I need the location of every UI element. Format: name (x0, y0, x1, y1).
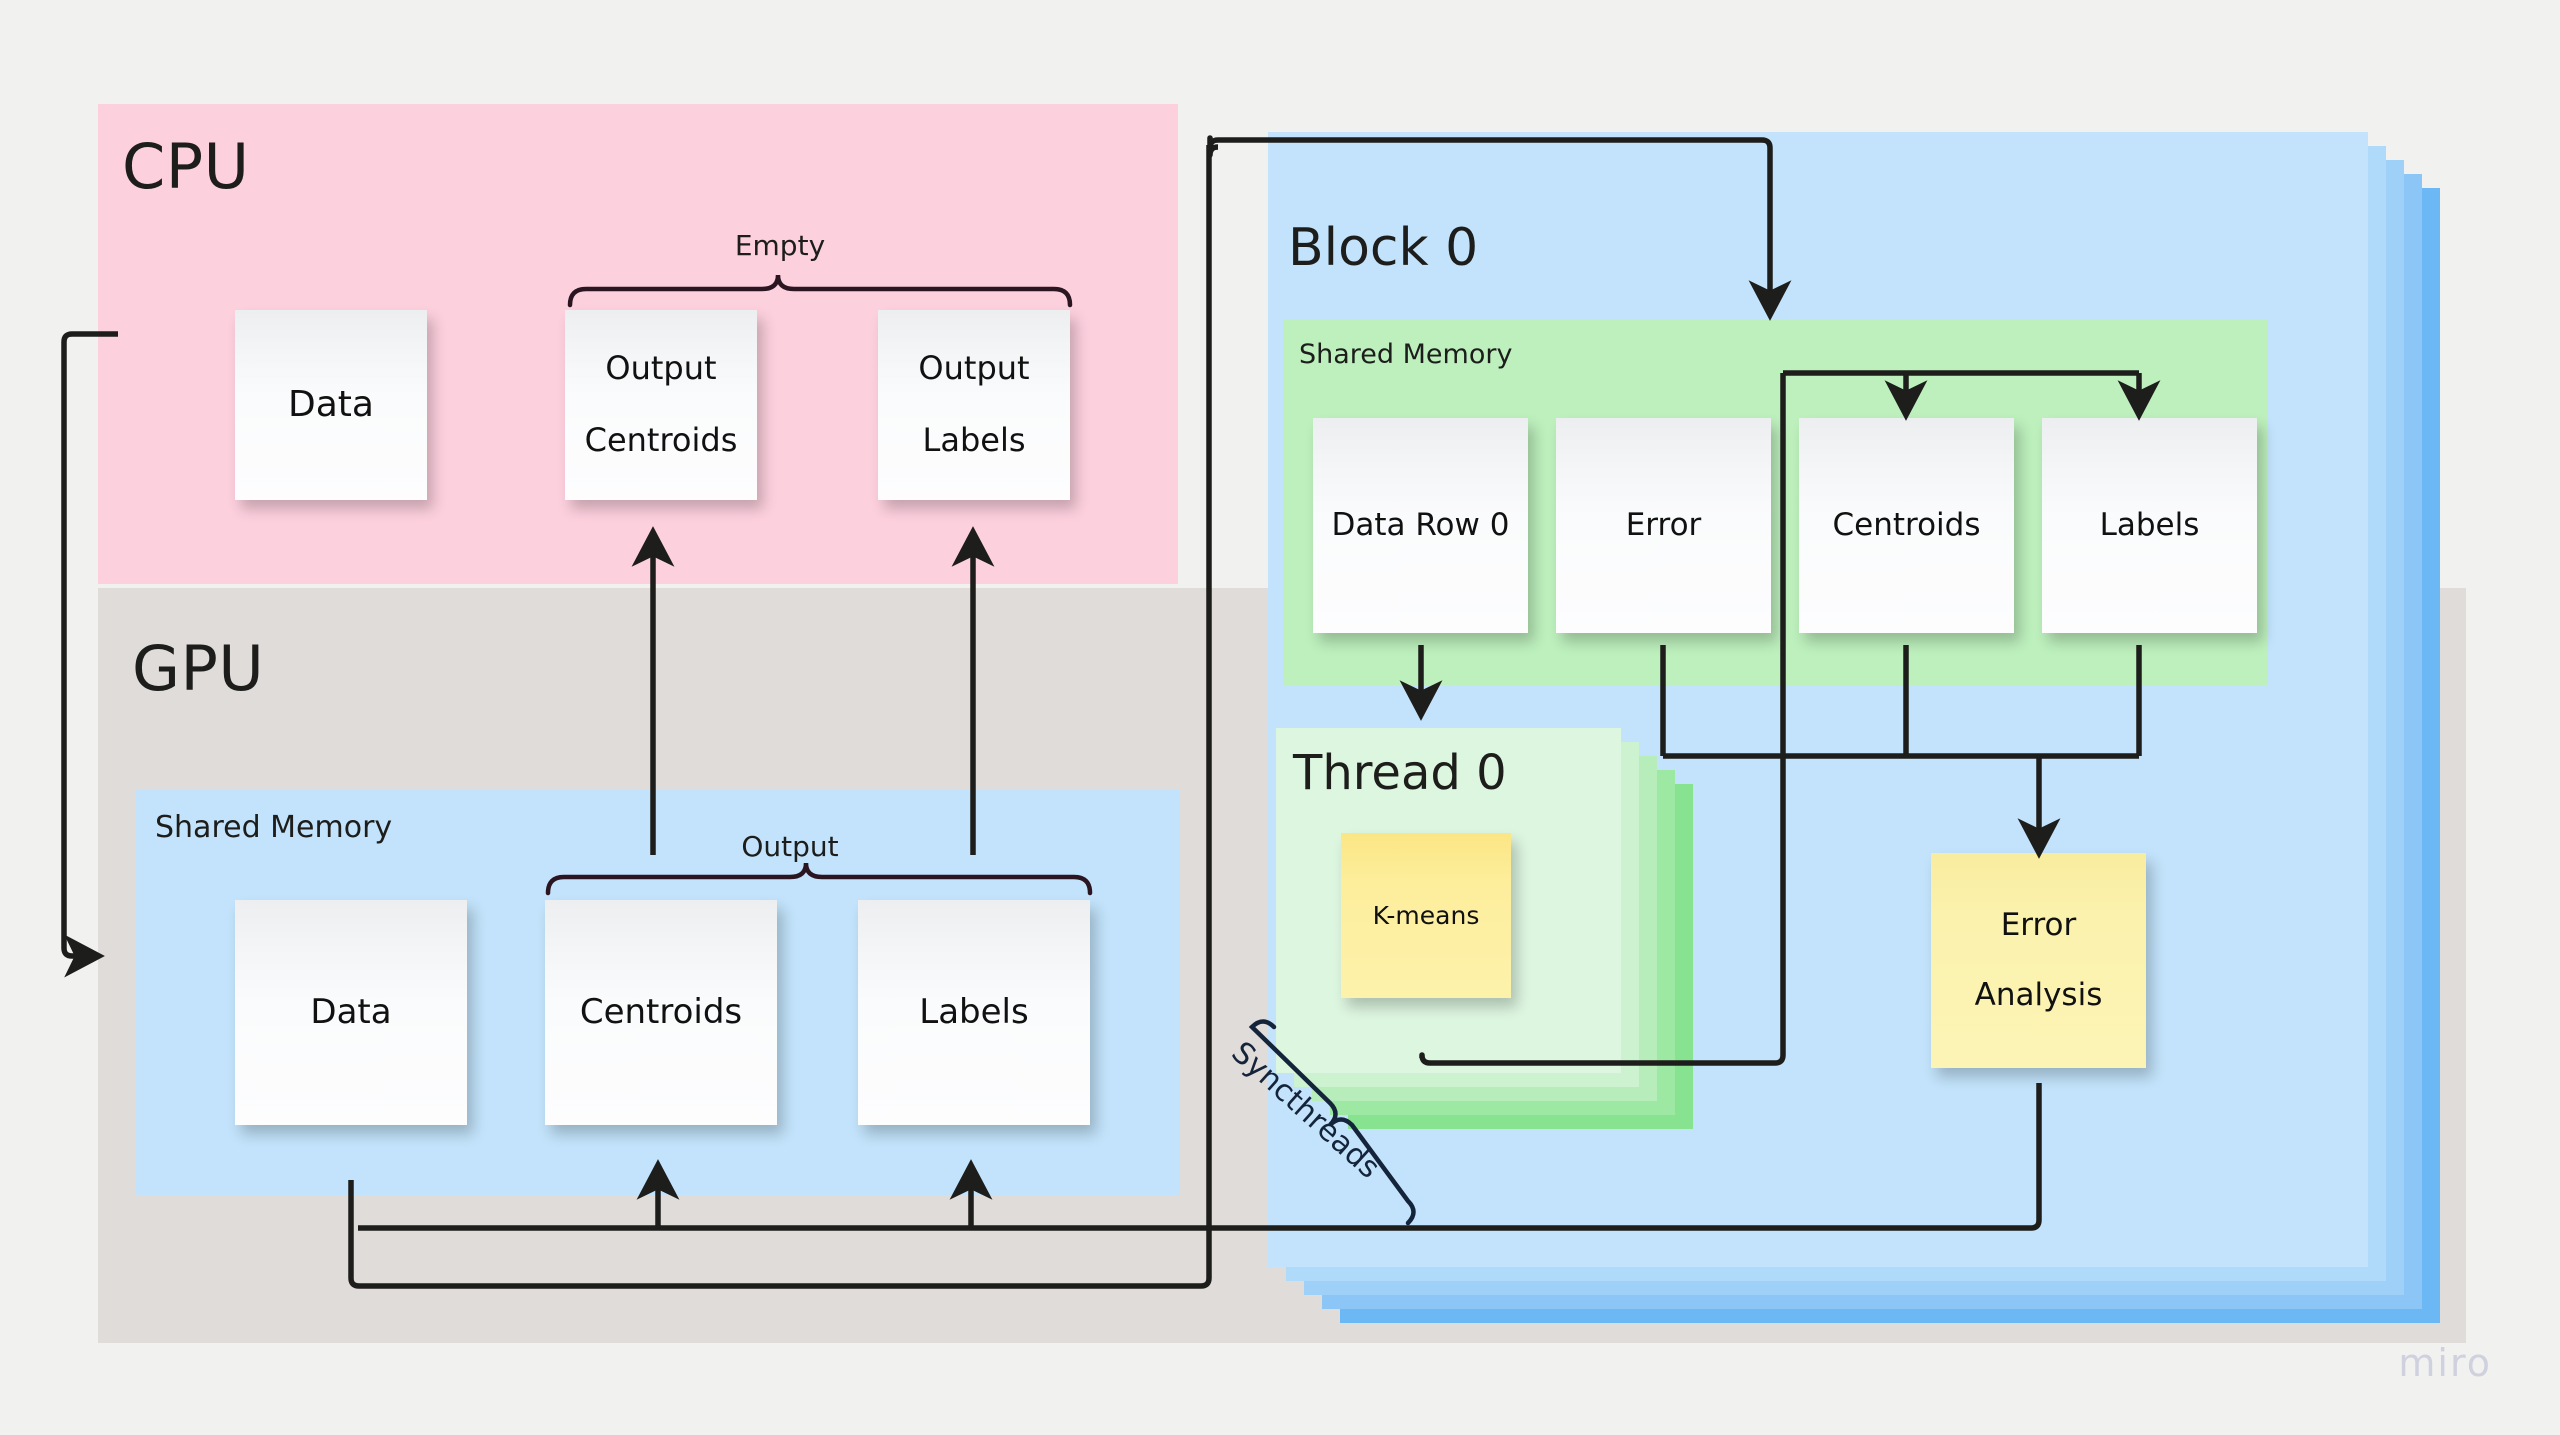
note-label: Output Centroids (573, 351, 750, 458)
note-line-1: Output (912, 351, 1035, 387)
thread-title: Thread 0 (1293, 745, 1507, 801)
note-cpu-data[interactable]: Data (235, 310, 427, 500)
gpu-bracket-label: Output (700, 830, 880, 863)
cpu-title: CPU (122, 130, 250, 203)
note-label: Data Row 0 (1326, 508, 1516, 543)
note-k-means[interactable]: K-means (1341, 833, 1511, 998)
miro-watermark: miro (2398, 1341, 2492, 1385)
note-label: Centroids (1827, 508, 1987, 543)
note-output-centroids[interactable]: Output Centroids (565, 310, 757, 500)
note-gpu-labels[interactable]: Labels (858, 900, 1090, 1125)
diagram-canvas: Block 0 Shared Memory Data Row 0 Error C… (0, 0, 2560, 1435)
cpu-bracket-label: Empty (690, 229, 870, 262)
note-output-labels[interactable]: Output Labels (878, 310, 1070, 500)
note-label: Data (282, 385, 380, 425)
gpu-title: GPU (132, 632, 264, 705)
note-data-row-0[interactable]: Data Row 0 (1313, 418, 1528, 633)
note-label: Error Analysis (1963, 908, 2115, 1012)
note-line-2: Centroids (579, 423, 744, 459)
note-label: Labels (2094, 508, 2206, 543)
note-error[interactable]: Error (1556, 418, 1771, 633)
note-line-2: Labels (912, 423, 1035, 459)
block-title: Block 0 (1288, 218, 1478, 278)
note-block-labels[interactable]: Labels (2042, 418, 2257, 633)
block-shared-memory-label: Shared Memory (1299, 339, 1512, 370)
note-gpu-centroids[interactable]: Centroids (545, 900, 777, 1125)
note-gpu-data[interactable]: Data (235, 900, 467, 1125)
note-block-centroids[interactable]: Centroids (1799, 418, 2014, 633)
note-line-2: Analysis (1969, 978, 2109, 1013)
note-line-1: Output (579, 351, 744, 387)
note-label: K-means (1367, 902, 1486, 930)
note-label: Labels (913, 993, 1034, 1031)
note-label: Data (304, 993, 397, 1031)
note-label: Output Labels (906, 351, 1041, 458)
gpu-shared-memory-label: Shared Memory (155, 810, 392, 845)
note-label: Centroids (574, 993, 748, 1031)
note-line-1: Error (1969, 908, 2109, 943)
note-label: Error (1620, 508, 1708, 543)
note-error-analysis[interactable]: Error Analysis (1931, 853, 2146, 1068)
